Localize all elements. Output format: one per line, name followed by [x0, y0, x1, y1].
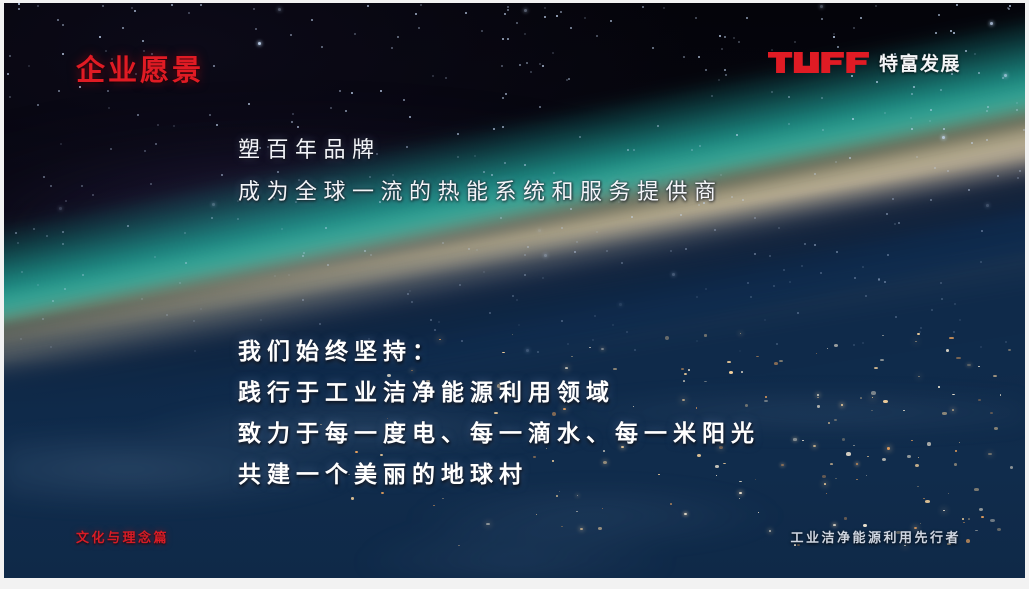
vision-line: 塑百年品牌 — [238, 129, 723, 171]
page-title: 企业愿景 — [76, 47, 204, 89]
company-name: 特富发展 — [879, 49, 961, 76]
footer-section-label: 文化与理念篇 — [76, 527, 169, 546]
presentation-slide: 企业愿景 特富发展 塑百年品牌 成为全球一流的热能系统和服务提供商 — [4, 3, 1025, 578]
pledge-statement-block: 我们始终坚持： 践行于工业洁净能源利用领域 致力于每一度电、每一滴水、每一米阳光… — [238, 331, 760, 495]
vision-line: 成为全球一流的热能系统和服务提供商 — [238, 171, 723, 213]
tuff-wordmark-logo — [768, 52, 870, 73]
brand-logo: 特富发展 — [768, 49, 961, 76]
pledge-line: 共建一个美丽的地球村 — [238, 454, 760, 495]
vision-statement-block: 塑百年品牌 成为全球一流的热能系统和服务提供商 — [238, 129, 723, 213]
pledge-line: 践行于工业洁净能源利用领域 — [238, 372, 760, 413]
slide-page-frame: 企业愿景 特富发展 塑百年品牌 成为全球一流的热能系统和服务提供商 — [0, 0, 1029, 589]
pledge-line: 致力于每一度电、每一滴水、每一米阳光 — [238, 413, 760, 454]
footer-tagline: 工业洁净能源利用先行者 — [790, 527, 961, 546]
pledge-line: 我们始终坚持： — [238, 331, 760, 372]
